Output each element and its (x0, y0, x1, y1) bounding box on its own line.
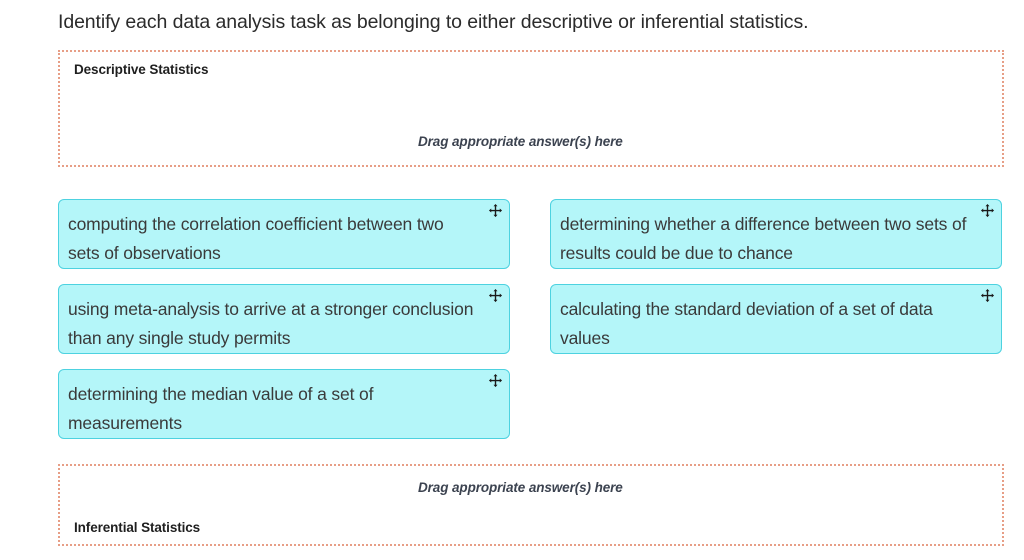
move-icon (980, 203, 995, 218)
move-icon (488, 203, 503, 218)
move-icon (488, 288, 503, 303)
answer-card[interactable]: computing the correlation coefficient be… (58, 199, 510, 269)
dropzone-descriptive-statistics[interactable]: Descriptive Statistics Drag appropriate … (58, 50, 1004, 167)
drag-hint-inferential: Drag appropriate answer(s) here (418, 480, 623, 495)
answer-card-text: using meta-analysis to arrive at a stron… (68, 295, 475, 353)
answer-card[interactable]: calculating the standard deviation of a … (550, 284, 1002, 354)
answer-card[interactable]: determining whether a difference between… (550, 199, 1002, 269)
answer-card[interactable]: determining the median value of a set of… (58, 369, 510, 439)
answer-card[interactable]: using meta-analysis to arrive at a stron… (58, 284, 510, 354)
answer-card-text: calculating the standard deviation of a … (560, 295, 967, 353)
move-icon (980, 288, 995, 303)
dropzone-label-descriptive: Descriptive Statistics (74, 62, 208, 77)
dropzone-inferential-statistics[interactable]: Drag appropriate answer(s) here Inferent… (58, 464, 1004, 546)
answer-card-text: determining the median value of a set of… (68, 380, 475, 438)
drag-hint-descriptive: Drag appropriate answer(s) here (418, 134, 623, 149)
page-title: Identify each data analysis task as belo… (58, 9, 998, 35)
answer-card-text: computing the correlation coefficient be… (68, 210, 475, 268)
answer-card-text: determining whether a difference between… (560, 210, 967, 268)
move-icon (488, 373, 503, 388)
dropzone-label-inferential: Inferential Statistics (74, 520, 200, 535)
